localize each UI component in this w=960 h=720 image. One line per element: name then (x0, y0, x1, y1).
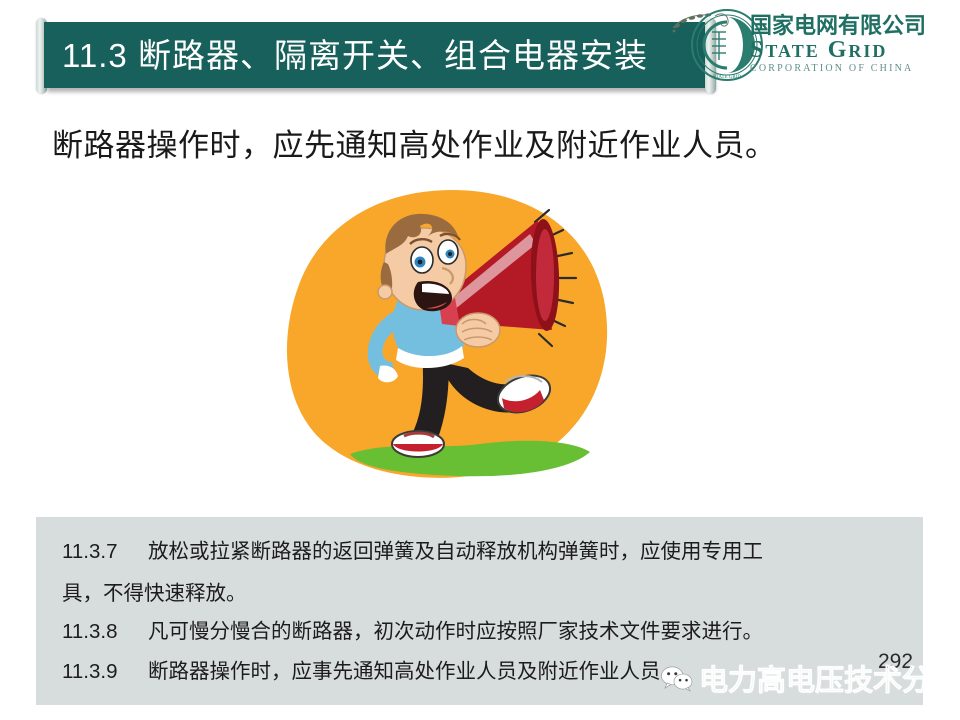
slide-headline: 断路器操作时，应先通知高处作业及附近作业人员。 (52, 120, 777, 165)
note-line: 11.3.7放松或拉紧断路器的返回弹簧及自动释放机构弹簧时，应使用专用工 (62, 542, 763, 563)
notes-panel: 11.3.7放松或拉紧断路器的返回弹簧及自动释放机构弹簧时，应使用专用工 具，不… (36, 517, 923, 705)
note-text: 断路器操作时，应事先通知高处作业人员及附近作业人员。 (148, 660, 681, 683)
title-banner-container: 11.3 断路器、隔离开关、组合电器安装 (36, 22, 716, 90)
state-grid-logo-text: 国家电网有限公司 STATE GRID CORPORATION OF CHINA (750, 14, 956, 74)
note-item-11-3-8: 11.3.8凡可慢分慢合的断路器，初次动作时应按照厂家技术文件要求进行。 (62, 622, 763, 643)
note-number: 11.3.8 (62, 622, 148, 643)
logo-en-g: G (828, 37, 849, 63)
boy-hand (456, 313, 500, 347)
svg-text:STATE GRID: STATE GRID (713, 75, 741, 80)
boy-ear (378, 285, 392, 299)
note-text: 放松或拉紧断路器的返回弹簧及自动释放机构弹簧时，应使用专用工 (148, 540, 763, 563)
logo-company-subtitle: CORPORATION OF CHINA (750, 63, 956, 74)
logo-en-tate: TATE (765, 41, 819, 61)
slide-title-banner: 11.3 断路器、隔离开关、组合电器安装 (44, 22, 712, 88)
note-number: 11.3.7 (62, 542, 148, 563)
state-grid-logo: STATE GRID 国家电网有限公司 STATE GRID CORPORATI… (690, 6, 958, 88)
page-title: 11.3 断路器、隔离开关、组合电器安装 (44, 39, 648, 72)
logo-en-rid: RID (848, 41, 887, 61)
note-text: 凡可慢分慢合的断路器，初次动作时应按照厂家技术文件要求进行。 (148, 620, 763, 643)
note-line: 具，不得快速释放。 (62, 584, 247, 605)
boy-standing-shoe (392, 431, 444, 457)
logo-en-s: S (750, 37, 765, 63)
page-number: 292 (878, 650, 913, 674)
boy-with-megaphone-illustration (252, 182, 652, 504)
logo-company-name-en: STATE GRID (750, 38, 956, 63)
logo-company-name-cn: 国家电网有限公司 (750, 14, 956, 38)
note-item-11-3-9: 11.3.9断路器操作时，应事先通知高处作业人员及附近作业人员。 (62, 662, 681, 683)
note-number: 11.3.9 (62, 662, 148, 683)
